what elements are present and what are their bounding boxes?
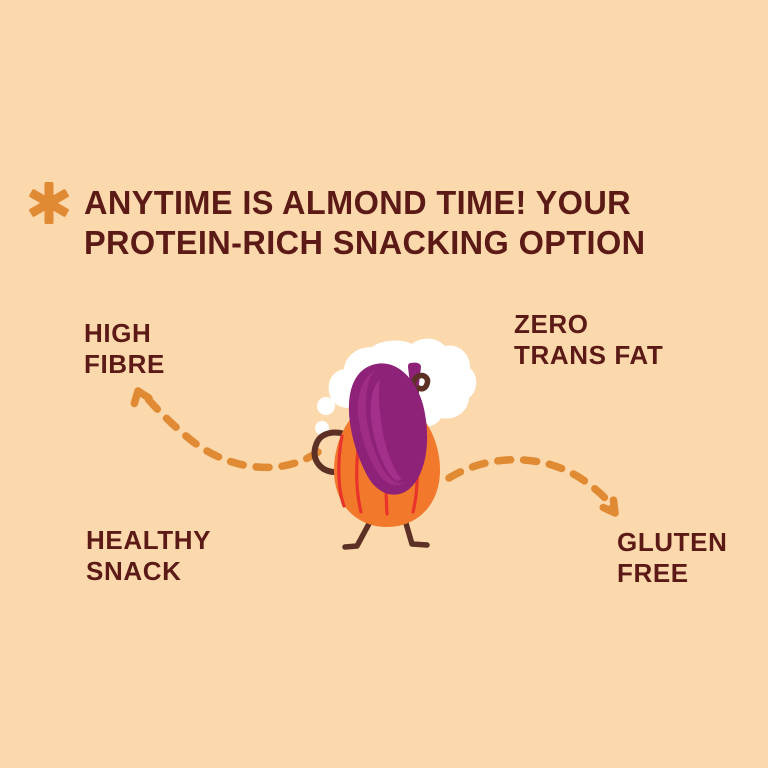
thought-bubble-small-icons — [315, 397, 335, 435]
arrow-to-high-fibre-icon — [133, 391, 318, 467]
poster-canvas: ANYTIME IS ALMOND TIME! YOUR PROTEIN-RIC… — [0, 0, 768, 768]
arrow-to-gluten-free-icon — [449, 460, 615, 513]
illustration-layer — [0, 0, 768, 768]
